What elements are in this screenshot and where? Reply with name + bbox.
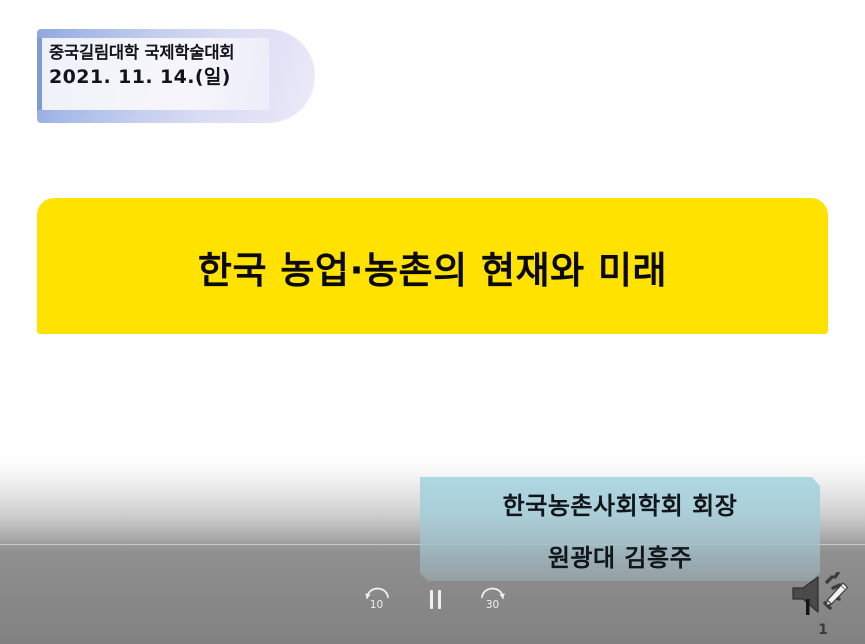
speaker-affiliation: 한국농촌사회학회 회장 (503, 486, 738, 521)
speaker-stem-shape (806, 599, 810, 615)
header-badge-line-1: 중국길림대학 국제학술대회 (49, 41, 274, 64)
header-badge-line-2: 2021. 11. 14.(일) (49, 64, 274, 90)
forward-30-button[interactable]: 30 (476, 584, 510, 614)
forward-30-icon: 30 (478, 585, 508, 613)
rewind-10-icon: 10 (362, 585, 392, 613)
title-banner: 한국 농업·농촌의 현재와 미래 (37, 198, 828, 334)
forward-30-label: 30 (486, 599, 499, 611)
pause-button[interactable] (422, 584, 448, 614)
speaker-info-panel: 한국농촌사회학회 회장 원광대 김흥주 (420, 477, 820, 581)
header-badge: 중국길림대학 국제학술대회 2021. 11. 14.(일) (37, 29, 315, 123)
rewind-10-label: 10 (370, 599, 383, 611)
speaker-name: 원광대 김흥주 (548, 538, 692, 573)
pause-icon-bar-left (430, 590, 433, 609)
presentation-slide: 중국길림대학 국제학술대회 2021. 11. 14.(일) 한국 농업·농촌의… (0, 0, 865, 644)
slide-title: 한국 농업·농촌의 현재와 미래 (198, 240, 667, 294)
pause-icon-bar-right (438, 590, 441, 609)
rewind-10-button[interactable]: 10 (360, 584, 394, 614)
page-number: 1 (812, 620, 834, 640)
header-badge-left-accent-bar (37, 38, 42, 110)
header-badge-text-group: 중국길림대학 국제학술대회 2021. 11. 14.(일) (49, 41, 274, 90)
speaker-cone-shape (793, 577, 818, 612)
media-player-controls: 10 30 (360, 583, 510, 615)
